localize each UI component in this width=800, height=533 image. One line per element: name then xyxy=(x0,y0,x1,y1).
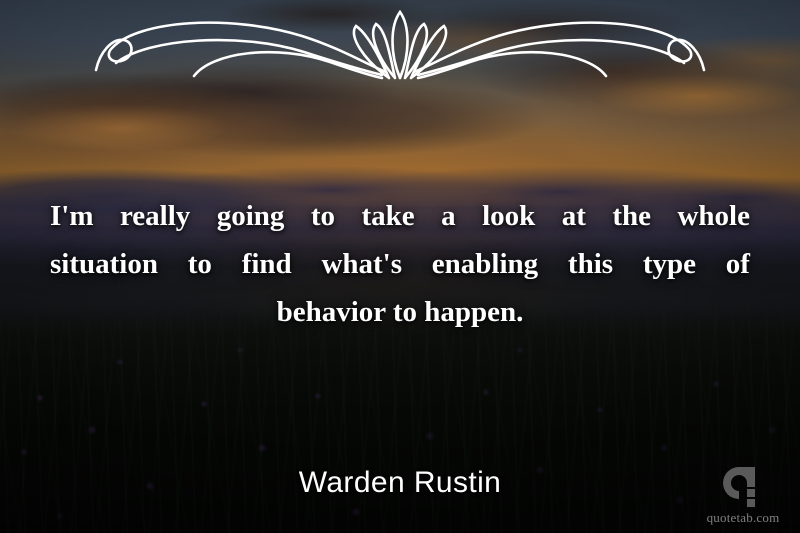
card-content: I'm really going to take a look at the w… xyxy=(0,0,800,533)
quote-word: of xyxy=(726,240,750,288)
quote-word: to xyxy=(188,240,212,288)
quotetab-q-logo-icon xyxy=(717,465,769,509)
quote-word: really xyxy=(120,192,190,240)
quote-word: I'm xyxy=(50,192,94,240)
quote-word: what's xyxy=(321,240,402,288)
quote-word: this xyxy=(568,240,613,288)
quote-text: I'm really going to take a look at the w… xyxy=(50,192,750,336)
quote-word: look xyxy=(482,192,535,240)
quote-line-2: situation to find what's enabling this t… xyxy=(50,240,750,288)
site-watermark[interactable]: quotetab.com xyxy=(697,465,789,526)
quote-word: take xyxy=(362,192,415,240)
quote-word: a xyxy=(441,192,456,240)
quote-word: the xyxy=(612,192,651,240)
quote-author: Warden Rustin xyxy=(0,466,800,500)
watermark-site-label: quotetab.com xyxy=(697,510,789,526)
quote-line-3: behavior to happen. xyxy=(50,288,750,336)
quote-line-1: I'm really going to take a look at the w… xyxy=(50,192,750,240)
quote-word: type xyxy=(643,240,696,288)
quote-word: whole xyxy=(677,192,750,240)
quote-word: find xyxy=(242,240,292,288)
quote-word: at xyxy=(562,192,586,240)
quote-word: to xyxy=(311,192,335,240)
quote-word: going xyxy=(217,192,285,240)
quote-image-card: I'm really going to take a look at the w… xyxy=(0,0,800,533)
quote-word: situation xyxy=(50,240,158,288)
flourish-divider-ornament xyxy=(90,8,710,80)
quote-word: enabling xyxy=(432,240,538,288)
